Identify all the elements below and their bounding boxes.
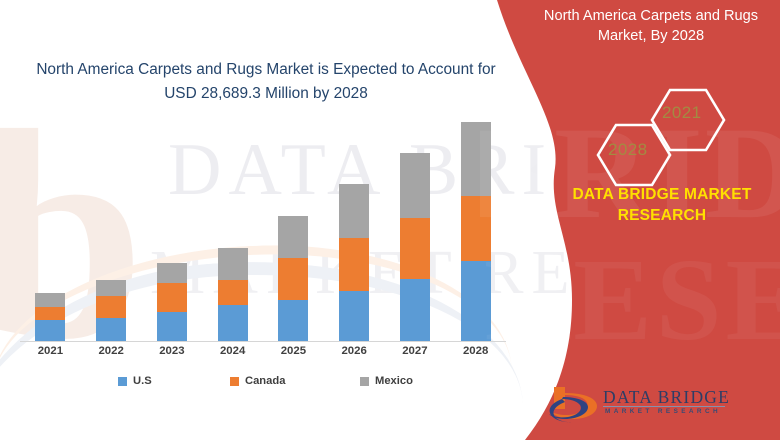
x-axis-labels: 20212022202320242025202620272028 <box>20 345 510 365</box>
brand-heading-line1: DATA BRIDGE MARKET <box>556 184 768 205</box>
bar-2023 <box>157 263 187 341</box>
bar-segment-2022-us <box>96 318 126 341</box>
bar-segment-2024-us <box>218 305 248 341</box>
x-axis-label-2024: 2024 <box>206 345 260 357</box>
legend-label-us: U.S <box>133 375 152 387</box>
bar-segment-2027-canada <box>400 218 430 279</box>
bar-segment-2021-us <box>35 320 65 341</box>
bar-segment-2023-mexico <box>157 263 187 283</box>
bar-segment-2026-us <box>339 291 369 341</box>
chart-title: North America Carpets and Rugs Market is… <box>24 58 508 106</box>
bar-2025 <box>278 216 308 341</box>
logo-mark-icon <box>545 385 605 429</box>
legend-item-mexico[interactable]: Mexico <box>360 375 413 387</box>
chart-legend: U.SCanadaMexico <box>20 372 510 394</box>
x-axis-label-2027: 2027 <box>388 345 442 357</box>
dbmr-logo: DATA BRIDGE MARKET RESEARCH <box>545 385 735 429</box>
bar-segment-2026-mexico <box>339 184 369 238</box>
hexagon-2028-label: 2028 <box>608 140 647 160</box>
bar-segment-2021-canada <box>35 307 65 320</box>
x-axis-label-2022: 2022 <box>84 345 138 357</box>
bar-segment-2023-us <box>157 312 187 341</box>
legend-swatch-mexico <box>360 377 369 386</box>
logo-divider <box>603 406 725 407</box>
logo-name: DATA BRIDGE <box>603 387 730 408</box>
legend-label-canada: Canada <box>245 375 285 387</box>
bar-segment-2021-mexico <box>35 293 65 307</box>
legend-swatch-canada <box>230 377 239 386</box>
x-axis-label-2021: 2021 <box>23 345 77 357</box>
x-axis-label-2025: 2025 <box>266 345 320 357</box>
chart-plot-area <box>20 110 510 342</box>
x-axis-label-2023: 2023 <box>145 345 199 357</box>
bar-segment-2025-canada <box>278 258 308 300</box>
legend-item-us[interactable]: U.S <box>118 375 152 387</box>
logo-tagline: MARKET RESEARCH <box>605 408 721 415</box>
panel-watermark-research: RESEARCH <box>484 232 780 368</box>
legend-label-mexico: Mexico <box>375 375 413 387</box>
bar-segment-2023-canada <box>157 283 187 312</box>
brand-heading-line2: RESEARCH <box>556 205 768 226</box>
legend-swatch-us <box>118 377 127 386</box>
bar-segment-2022-mexico <box>96 280 126 296</box>
bar-2027 <box>400 153 430 341</box>
brand-heading: DATA BRIDGE MARKET RESEARCH <box>556 184 768 226</box>
x-axis-label-2026: 2026 <box>327 345 381 357</box>
bar-segment-2025-us <box>278 300 308 341</box>
bar-segment-2025-mexico <box>278 216 308 258</box>
bar-2024 <box>218 248 248 341</box>
bar-segment-2022-canada <box>96 296 126 318</box>
bar-2021 <box>35 293 65 341</box>
bar-2022 <box>96 280 126 341</box>
infographic-canvas: b DATA BRIDGE MARKET RESEARCH North Amer… <box>0 0 780 440</box>
bar-segment-2027-mexico <box>400 153 430 218</box>
hexagon-group: 2028 2021 <box>590 84 760 196</box>
legend-item-canada[interactable]: Canada <box>230 375 285 387</box>
x-axis-line <box>20 341 506 342</box>
bar-segment-2027-us <box>400 279 430 341</box>
bar-segment-2026-canada <box>339 238 369 291</box>
bar-segment-2024-canada <box>218 280 248 305</box>
hexagon-2021-label: 2021 <box>662 103 701 123</box>
panel-title: North America Carpets and Rugs Market, B… <box>528 6 774 46</box>
bar-2026 <box>339 184 369 341</box>
bar-segment-2024-mexico <box>218 248 248 280</box>
